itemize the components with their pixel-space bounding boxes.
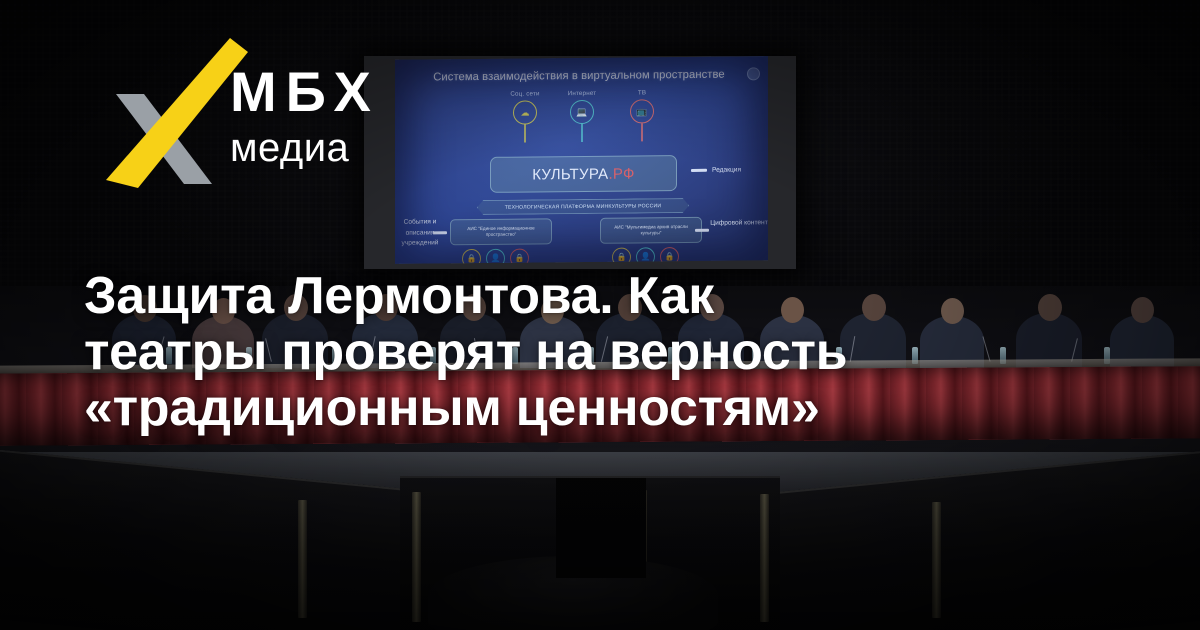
slide-system-box-1: АИС "Единое информационное пространство" [450, 218, 552, 245]
article-headline: Защита Лермонтова. Как театры проверят н… [84, 268, 1134, 436]
logo-name-secondary: медиа [230, 128, 380, 168]
barrier-bracket [412, 492, 421, 622]
barrier-bracket [298, 500, 307, 618]
slide-hub-box: КУЛЬТУРА.РФ [490, 155, 677, 193]
panelist-head [1131, 297, 1154, 323]
presentation-slide: Система взаимодействия в виртуальном про… [395, 56, 768, 264]
logo-name-primary: МБХ [230, 64, 380, 120]
connector-line [581, 124, 582, 142]
barrier-bracket [932, 502, 941, 618]
connector-line [641, 123, 642, 141]
headline-line-3: «традиционным ценностям» [84, 380, 1134, 436]
slide-system-box-2: АИС "Мультимедиа архив отрасли культуры" [600, 217, 702, 244]
legend-label: Редакция [712, 166, 741, 173]
barrier-bracket [760, 494, 769, 622]
article-cover-image: Система взаимодействия в виртуальном про… [0, 0, 1200, 630]
headline-line-1: Защита Лермонтова. Как [84, 268, 1134, 324]
stage-gap [556, 478, 646, 578]
slide-channel-tv: ТВ 📺 [607, 89, 677, 142]
user-icon: 👤 [486, 249, 505, 264]
slide-legend-editorial: Редакция [691, 166, 741, 173]
slide-actor-icons-left: 🔒 👤 🔒 [462, 249, 529, 264]
lock-icon: 🔒 [462, 249, 481, 264]
projector-screen: Система взаимодействия в виртуальном про… [395, 56, 768, 264]
connector-dash-icon [433, 231, 447, 234]
laptop-icon: 💻 [570, 100, 594, 124]
slide-footer [395, 255, 768, 259]
slide-side-label-right: Цифровой контент [708, 218, 768, 229]
slide-platform-bar: ТЕХНОЛОГИЧЕСКАЯ ПЛАТФОРМА МИНКУЛЬТУРЫ РО… [477, 198, 689, 215]
info-badge-icon [747, 67, 760, 80]
social-network-icon: ☁ [513, 100, 537, 124]
connector-line [524, 125, 525, 143]
mbh-media-logo[interactable]: МБХ медиа [100, 38, 400, 198]
tv-icon: 📺 [630, 99, 654, 123]
slide-hub-suffix: .РФ [608, 165, 634, 182]
legend-dash-icon [691, 169, 707, 172]
user-icon: 👤 [636, 247, 655, 263]
slide-channel-row: Соц. сети ☁ Интернет 💻 ТВ 📺 [395, 88, 768, 142]
headline-line-2: театры проверят на верность [84, 324, 1134, 380]
slide-hub-name: КУЛЬТУРА [532, 165, 608, 183]
lock-icon: 🔒 [612, 248, 631, 264]
slide-channel-label: ТВ [607, 89, 677, 97]
logo-wordmark: МБХ медиа [230, 64, 380, 168]
connector-dash-icon [695, 229, 709, 232]
x-logo-mark-icon [100, 38, 250, 198]
shield-lock-icon: 🔒 [510, 249, 529, 264]
slide-title: Система взаимодействия в виртуальном про… [409, 68, 749, 83]
